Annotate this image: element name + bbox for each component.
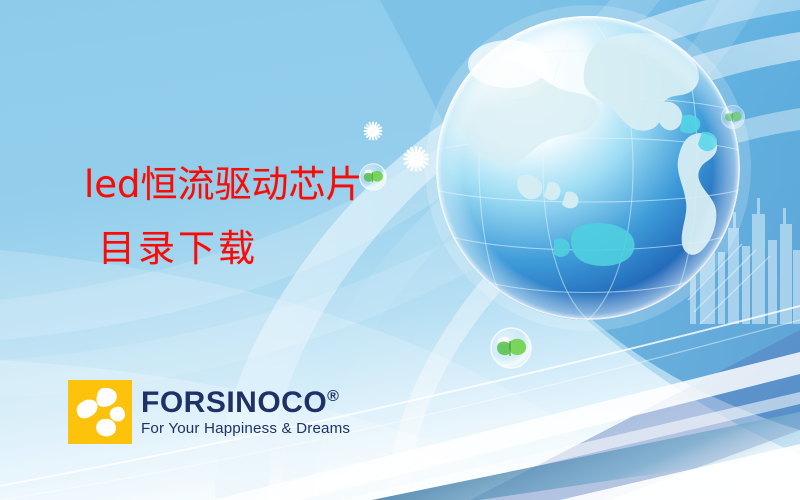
four-petal-flower-icon [68, 380, 132, 444]
sparkle-starburst-icon [365, 123, 428, 171]
headline-line-2: 目录下载 [98, 230, 363, 267]
headline-line-1: led恒流驱动芯片 [84, 166, 363, 203]
promo-banner: led恒流驱动芯片 目录下载 FORSINOCO® For Your Happi… [0, 0, 800, 500]
logo-wordmark: FORSINOCO® [141, 388, 350, 418]
company-logo: FORSINOCO® For Your Happiness & Dreams [68, 380, 350, 444]
logo-text-block: FORSINOCO® For Your Happiness & Dreams [141, 388, 350, 436]
registered-trademark-icon: ® [327, 388, 339, 405]
bubble-with-leaf-icon [360, 105, 745, 368]
logo-tagline: For Your Happiness & Dreams [141, 421, 350, 436]
headline-text: led恒流驱动芯片 目录下载 [84, 166, 363, 267]
logo-wordmark-text: FORSINOCO [141, 386, 327, 419]
